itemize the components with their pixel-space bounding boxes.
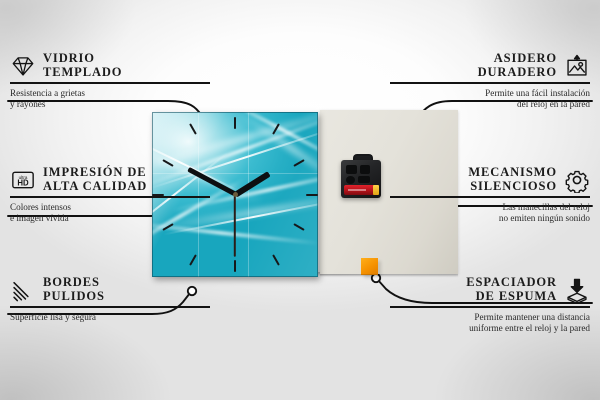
- feature-divider: [390, 306, 590, 308]
- feature-title-line1: VIDRIO: [43, 52, 122, 66]
- feature-desc-line1: Superficie lisa y segura: [10, 312, 210, 323]
- feature-desc-line2: del reloj en la pared: [390, 99, 590, 110]
- picture-hanger-icon: [564, 53, 590, 79]
- feature-title-line1: ESPACIADOR: [466, 276, 557, 290]
- feature-mecanismo-silencioso: MECANISMO SILENCIOSO Las manecillas del …: [390, 166, 590, 224]
- feature-desc-line2: no emiten ningún sonido: [390, 213, 590, 224]
- feature-divider: [10, 196, 210, 198]
- diamond-icon: [10, 53, 36, 79]
- foam-spacer-icon: [564, 277, 590, 303]
- feature-impresion-alta-calidad: ultra HD IMPRESIÓN DE ALTA CALIDAD Color…: [10, 166, 210, 224]
- feature-desc-line1: Permite una fácil instalación: [390, 88, 590, 99]
- feature-title-line1: IMPRESIÓN DE: [43, 166, 147, 180]
- feature-vidrio-templado: VIDRIO TEMPLADO Resistencia a grietas y …: [10, 52, 210, 110]
- feature-title-line1: MECANISMO: [468, 166, 557, 180]
- feature-title-line1: ASIDERO: [478, 52, 557, 66]
- battery: [344, 185, 378, 195]
- mechanism-detail: [346, 165, 357, 174]
- feature-title-line2: DURADERO: [478, 66, 557, 80]
- feature-title-line2: PULIDOS: [43, 290, 105, 304]
- infographic-canvas: VIDRIO TEMPLADO Resistencia a grietas y …: [0, 0, 600, 400]
- gear-icon: [564, 167, 590, 193]
- silent-quartz-mechanism: [341, 160, 381, 198]
- polished-edges-icon: [10, 277, 36, 303]
- battery-positive-tip: [373, 185, 379, 195]
- feature-desc-line2: y rayones: [10, 99, 210, 110]
- clock-center-pin: [233, 192, 238, 197]
- feature-bordes-pulidos: BORDES PULIDOS Superficie lisa y segura: [10, 276, 210, 323]
- foam-spacer: [361, 258, 378, 275]
- feature-desc-line1: Colores intensos: [10, 202, 210, 213]
- feature-divider: [10, 306, 210, 308]
- feature-title-line2: TEMPLADO: [43, 66, 122, 80]
- feature-desc-line2: uniforme entre el reloj y la pared: [390, 323, 590, 334]
- feature-espaciador-de-espuma: ESPACIADOR DE ESPUMA Permite mantener un…: [390, 276, 590, 334]
- feature-divider: [390, 82, 590, 84]
- mechanism-detail: [346, 176, 355, 184]
- feature-asidero-duradero: ASIDERO DURADERO Permite una fácil insta…: [390, 52, 590, 110]
- feature-desc-line1: Permite mantener una distancia: [390, 312, 590, 323]
- mechanism-detail: [360, 165, 370, 174]
- mechanism-detail: [358, 176, 370, 183]
- battery-label: [348, 189, 366, 191]
- feature-divider: [390, 196, 590, 198]
- svg-text:HD: HD: [17, 178, 29, 187]
- mechanism-body: [341, 160, 381, 198]
- ultra-hd-icon: ultra HD: [10, 167, 36, 193]
- feature-desc-line2: e imagen vívida: [10, 213, 210, 224]
- feature-divider: [10, 82, 210, 84]
- feature-desc-line1: Las manecillas del reloj: [390, 202, 590, 213]
- feature-title-line2: SILENCIOSO: [468, 180, 557, 194]
- feature-title-line2: ALTA CALIDAD: [43, 180, 147, 194]
- clock-second-hand: [234, 195, 236, 257]
- feature-title-line1: BORDES: [43, 276, 105, 290]
- feature-desc-line1: Resistencia a grietas: [10, 88, 210, 99]
- feature-title-line2: DE ESPUMA: [466, 290, 557, 304]
